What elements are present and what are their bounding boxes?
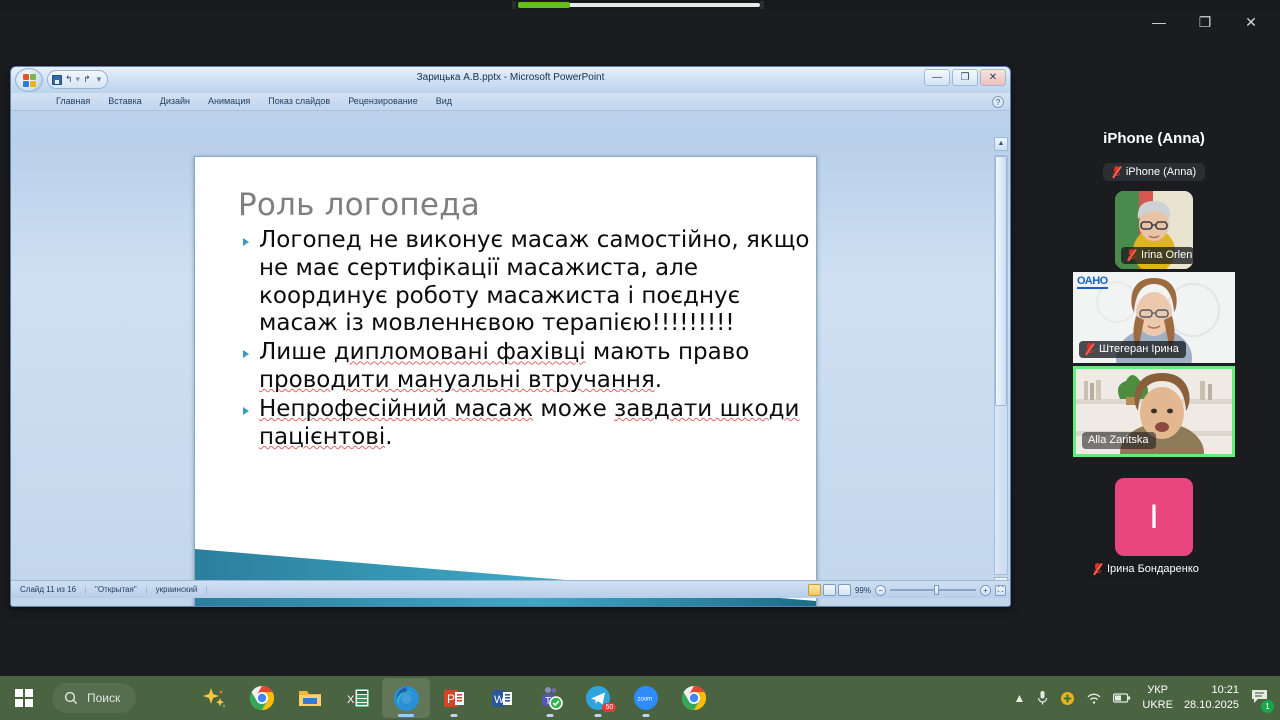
restore-button[interactable]: ❐ [1182,6,1228,38]
text-run: Лише [259,339,334,365]
zoom-out-button[interactable]: − [875,585,886,596]
bullet-text: Логопед не виконує масаж самостійно, якщ… [259,227,817,338]
slideshow-view-button[interactable] [838,584,851,596]
clock-time: 10:21 [1184,683,1239,698]
microphone-icon[interactable] [1036,690,1049,706]
fit-slide-to-window-button[interactable]: ⛶ [995,585,1006,596]
muted-microphone-icon [1112,166,1121,178]
tab-review[interactable]: Рецензирование [339,93,427,106]
start-button[interactable] [0,676,48,720]
language-code-top: УКР [1142,683,1173,698]
spellchecked-text-run: проводити мануальні втручання [259,367,655,393]
tab-animation[interactable]: Анимация [199,93,259,106]
telegram-badge: 50 [602,703,616,712]
slide-canvas[interactable]: Роль логопеда Логопед не виконує масаж с… [194,156,817,607]
muted-microphone-icon [1127,249,1136,261]
taskbar-item-zoom[interactable]: zoom [622,678,670,718]
participant-tile-active-speaker[interactable]: Alla Zaritska [1073,366,1235,457]
participant-name-bar: Alla Zaritska [1082,432,1156,449]
participant-name: Irina Orlenko [1141,249,1193,261]
list-item[interactable]: Непрофесійний масаж може завдати шкоди п… [237,396,817,452]
screen-share-indicator-bar [0,0,1280,10]
language-indicator[interactable]: украинский [147,586,208,594]
list-item[interactable]: Лише дипломовані фахівці мають право про… [237,339,817,395]
chrome-canary-icon [681,685,707,711]
zoom-slider-track [890,589,976,591]
language-indicator[interactable]: УКР UKRE [1142,683,1173,712]
ribbon-tab-bar: Главная Вставка Дизайн Анимация Показ сл… [11,93,1010,111]
slide-title[interactable]: Роль логопеда [238,187,480,223]
zoom-slider[interactable] [890,585,976,595]
status-bar-right: 99% − + ⛶ [808,581,1006,599]
taskbar-item-edge[interactable] [382,678,430,718]
slide-counter: Слайд 11 из 16 [11,586,86,594]
excel-icon: X [346,686,370,710]
zoom-icon: zoom [633,685,659,711]
ribbon-tabs: Главная Вставка Дизайн Анимация Показ сл… [11,93,1010,106]
minimize-button[interactable]: — [1136,6,1182,38]
zoom-in-button[interactable]: + [980,585,991,596]
normal-view-button[interactable] [808,584,821,596]
battery-icon[interactable] [1113,692,1131,704]
share-bar-handle-left[interactable] [512,1,516,9]
tab-slideshow[interactable]: Показ слайдов [259,93,339,106]
powerpoint-icon: P [442,686,466,710]
tab-view[interactable]: Вид [427,93,461,106]
muted-microphone-icon [1093,563,1102,575]
tab-design[interactable]: Дизайн [151,93,199,106]
muted-microphone-icon [1085,343,1094,355]
organization-logo: ОАНО [1077,275,1108,289]
spellchecked-text-run: Непрофесійний масаж [259,396,533,422]
language-code-bottom: UKRE [1142,698,1173,713]
self-participant-name: iPhone (Anna) [1126,166,1196,178]
participant-name-bar: Irina Orlenko [1121,247,1193,264]
view-mode-buttons [808,584,851,596]
taskbar-item-powerpoint[interactable]: P [430,678,478,718]
svg-text:P: P [447,692,455,706]
bullet-marker-icon [243,407,249,415]
taskbar-item-teams[interactable]: T [526,678,574,718]
tab-insert[interactable]: Вставка [99,93,150,106]
bullet-marker-icon [243,350,249,358]
taskbar-item-explorer[interactable] [286,678,334,718]
taskbar-item-word[interactable]: W [478,678,526,718]
avatar-initial: I [1149,498,1158,537]
scrollbar-thumb[interactable] [995,156,1007,406]
participant-name: Ірина Бондаренко [1107,563,1199,575]
powerpoint-editing-area: Роль логопеда Логопед не виконує масаж с… [11,111,1010,598]
taskbar-item-excel[interactable]: X [334,678,382,718]
powerpoint-status-bar: Слайд 11 из 16 "Открытая" украинский 99%… [11,580,1010,598]
screen: — ❐ ✕ ↰ ▾ ↱ ▾ Зарицьк [0,0,1280,720]
participant-name-bar: Ірина Бондаренко [1087,561,1160,578]
folder-icon [297,686,323,710]
participants-strip: iPhone (Anna) iPhone (Anna) [1040,130,1268,559]
windows-taskbar: Поиск [0,676,1280,720]
taskbar-item-copilot[interactable] [190,678,238,718]
bullet-marker-icon [243,238,249,246]
security-shield-icon[interactable] [1060,691,1075,706]
share-bar-handle-right[interactable] [760,1,764,9]
self-view-label-row: iPhone (Anna) [1040,163,1268,191]
search-icon [64,691,78,705]
participant-tile-row: I Ірина Бондаренко [1040,478,1268,559]
copilot-icon [201,685,227,711]
bullet-text: Лише дипломовані фахівці мають право про… [259,339,817,395]
close-button[interactable]: ✕ [1228,6,1274,38]
zoom-window-controls: — ❐ ✕ [1136,6,1274,38]
search-placeholder: Поиск [87,691,120,705]
help-icon[interactable]: ? [992,96,1004,108]
bullet-text: Непрофесійний масаж може завдати шкоди п… [259,396,817,452]
text-run: може [533,396,614,422]
scroll-up-button[interactable]: ▲ [994,137,1008,151]
powerpoint-window-controls: — ❐ ✕ [924,69,1006,86]
edge-icon [393,685,420,712]
powerpoint-titlebar[interactable]: ↰ ▾ ↱ ▾ Зарицька А.В.pptx - Microsoft Po… [11,67,1010,93]
wifi-icon[interactable] [1086,691,1102,705]
share-bar-fill [518,2,570,8]
svg-text:X: X [347,694,355,706]
participant-tile[interactable]: ОАНО Штегеран Ірина [1073,272,1235,363]
text-run: . [655,367,662,393]
participant-name: Alla Zaritska [1088,434,1149,446]
vertical-scrollbar[interactable] [994,155,1008,575]
taskbar-item-chrome[interactable] [238,678,286,718]
svg-text:zoom: zoom [638,697,653,703]
theme-name: "Открытая" [86,586,147,594]
participant-tile[interactable]: I Ірина Бондаренко [1115,478,1193,556]
zoom-level-label: 99% [855,586,871,595]
zoom-window: — ❐ ✕ ↰ ▾ ↱ ▾ Зарицьк [0,0,1280,676]
ppt-minimize-button[interactable]: — [924,69,950,86]
participant-tile[interactable]: Irina Orlenko [1115,191,1193,269]
avatar: I [1115,478,1193,556]
text-run: мають право [586,339,750,365]
taskbar-item-telegram[interactable]: 50 [574,678,622,718]
system-tray: ▲ УКР UKRE [1013,683,1280,712]
ppt-restore-button[interactable]: ❐ [952,69,978,86]
clock-date: 28.10.2025 [1184,698,1239,713]
zoom-slider-knob[interactable] [934,585,939,595]
tab-home[interactable]: Главная [47,93,99,106]
spellchecked-text-run: дипломовані фахівці [334,339,586,365]
list-item[interactable]: Логопед не виконує масаж самостійно, якщ… [237,227,817,338]
slide-sorter-button[interactable] [823,584,836,596]
powerpoint-title: Зарицька А.В.pptx - Microsoft PowerPoint [11,72,1010,83]
word-icon: W [490,686,514,710]
windows-logo-icon [15,689,33,707]
teams-icon: T [537,685,563,711]
text-run: . [385,424,392,450]
chrome-icon [249,685,275,711]
text-run: Логопед не виконує масаж самостійно, якщ… [259,227,809,336]
taskbar-item-chrome-canary[interactable] [670,678,718,718]
notification-count: 1 [1261,700,1274,713]
taskbar-app-icons: X P [190,678,718,718]
tray-expand-icon[interactable]: ▲ [1013,691,1025,705]
notification-center-button[interactable]: 1 [1250,687,1270,710]
participant-name-bar: Штегеран Ірина [1079,341,1186,358]
active-speaker-title: iPhone (Anna) [1040,130,1268,147]
clock[interactable]: 10:21 28.10.2025 [1184,683,1239,712]
slide-bullet-list[interactable]: Логопед не виконує масаж самостійно, якщ… [237,227,817,453]
participant-name: Штегеран Ірина [1099,343,1179,355]
ppt-close-button[interactable]: ✕ [980,69,1006,86]
powerpoint-window: ↰ ▾ ↱ ▾ Зарицька А.В.pptx - Microsoft Po… [10,66,1011,607]
search-input[interactable]: Поиск [52,683,136,713]
self-participant-label[interactable]: iPhone (Anna) [1103,163,1205,181]
